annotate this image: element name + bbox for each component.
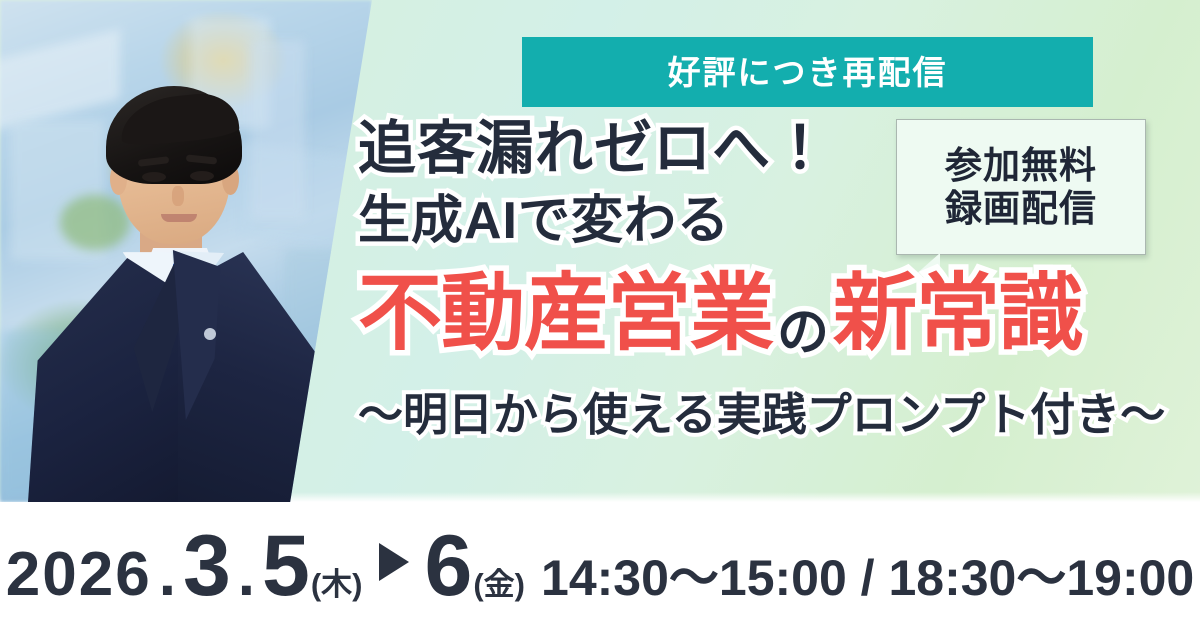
- headline-main-particle: の: [777, 304, 829, 362]
- date-time-bar: 2026 . 3 . 5 (木) 6 (金) 14:30〜15:00 / 18:…: [0, 502, 1200, 630]
- session-times: 14:30〜15:00 / 18:30〜19:00: [541, 538, 1194, 610]
- headline-line-2: 生成AIで変わる: [358, 193, 1148, 249]
- date-month: 3: [183, 517, 231, 616]
- figure-eye-right: [190, 171, 214, 181]
- headline-line-1: 追客漏れゼロへ！: [358, 118, 1148, 181]
- webinar-banner: 好評につき再配信 参加無料 録画配信 追客漏れゼロへ！ 生成AIで変わる 不動産…: [0, 0, 1200, 630]
- headline-block: 追客漏れゼロへ！ 生成AIで変わる 不動産営業の新常識 〜明日から使える実践プロ…: [358, 118, 1148, 443]
- figure-lapel-pin: [204, 328, 216, 340]
- rebroadcast-ribbon: 好評につき再配信: [522, 37, 1093, 107]
- date-year: 2026: [6, 539, 152, 610]
- date-separator-1: .: [159, 539, 176, 610]
- headline-main-line: 不動産営業の新常識: [358, 271, 1148, 357]
- headline-main-left: 不動産営業: [358, 266, 773, 360]
- figure-eye-left: [142, 172, 166, 182]
- date-weekday-start: (木): [311, 559, 363, 604]
- headline-subline: 〜明日から使える実践プロンプト付き〜: [358, 378, 1148, 443]
- rebroadcast-ribbon-label: 好評につき再配信: [668, 56, 948, 89]
- date-separator-2: .: [238, 539, 255, 610]
- headline-main-right: 新常識: [833, 266, 1082, 360]
- figure-mouth: [161, 214, 197, 222]
- date-range-arrow-icon: [379, 543, 409, 581]
- date-weekday-end: (金): [473, 559, 525, 604]
- date-time-inner: 2026 . 3 . 5 (木) 6 (金) 14:30〜15:00 / 18:…: [6, 517, 1194, 616]
- date-day-start: 5: [262, 517, 310, 616]
- figure-nose: [172, 186, 184, 206]
- date-day-end: 6: [425, 517, 473, 616]
